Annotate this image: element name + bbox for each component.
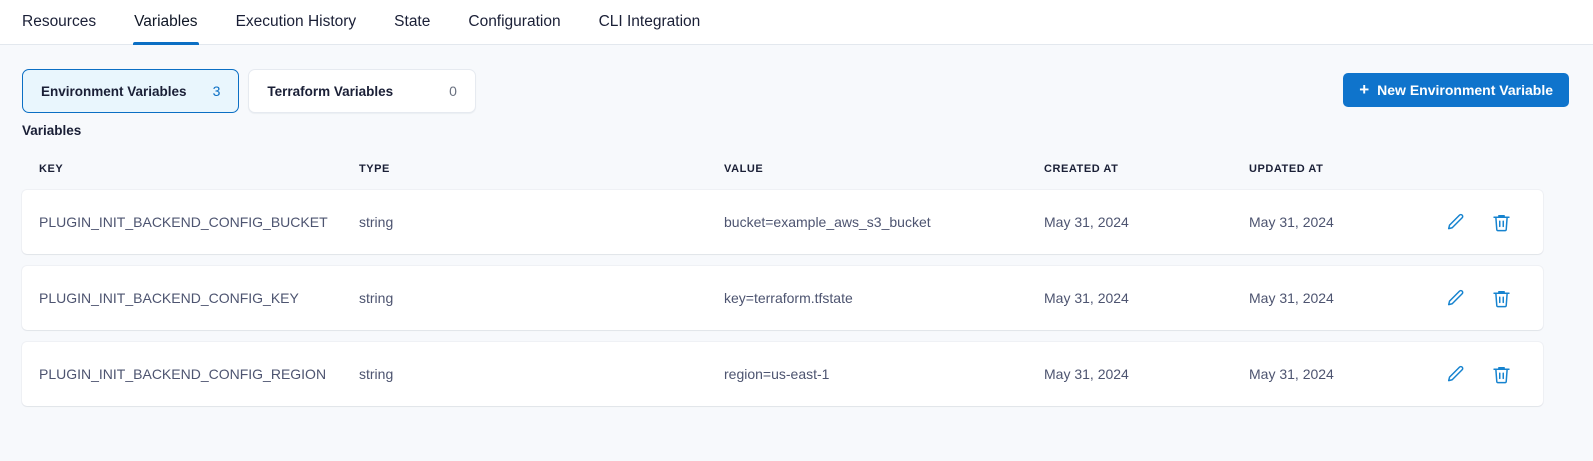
cell-value: region=us-east-1 — [707, 366, 1027, 382]
variables-table: KEY TYPE VALUE CREATED AT UPDATED AT PLU… — [0, 158, 1593, 406]
cell-type: string — [342, 214, 707, 230]
cell-actions — [1427, 287, 1540, 309]
cell-updated-at: May 31, 2024 — [1232, 214, 1427, 230]
trash-icon[interactable] — [1490, 363, 1512, 385]
tab-label: Resources — [22, 13, 96, 31]
table-row[interactable]: PLUGIN_INIT_BACKEND_CONFIG_KEY string ke… — [22, 266, 1543, 330]
cell-key: PLUGIN_INIT_BACKEND_CONFIG_BUCKET — [22, 214, 342, 230]
column-header-value: VALUE — [707, 163, 1027, 175]
tab-resources[interactable]: Resources — [22, 0, 96, 44]
table-header-row: KEY TYPE VALUE CREATED AT UPDATED AT — [0, 158, 1593, 180]
cell-key: PLUGIN_INIT_BACKEND_CONFIG_KEY — [22, 290, 342, 306]
cell-created-at: May 31, 2024 — [1027, 366, 1232, 382]
tab-label: Variables — [134, 13, 197, 31]
filter-count: 0 — [449, 83, 457, 99]
tab-state[interactable]: State — [394, 0, 430, 44]
variable-scope-filters: Environment Variables 3 Terraform Variab… — [22, 69, 476, 113]
filter-environment-variables[interactable]: Environment Variables 3 — [22, 69, 239, 113]
trash-icon[interactable] — [1490, 211, 1512, 233]
filter-count: 3 — [213, 83, 221, 99]
tab-variables[interactable]: Variables — [134, 0, 197, 44]
new-environment-variable-button[interactable]: + New Environment Variable — [1343, 73, 1569, 107]
cell-actions — [1427, 211, 1540, 233]
column-header-key: KEY — [22, 163, 342, 175]
tab-label: Execution History — [236, 13, 357, 31]
section-title: Variables — [0, 113, 1593, 138]
table-row[interactable]: PLUGIN_INIT_BACKEND_CONFIG_BUCKET string… — [22, 190, 1543, 254]
column-header-updated-at: UPDATED AT — [1232, 163, 1427, 175]
column-header-type: TYPE — [342, 163, 707, 175]
cell-type: string — [342, 290, 707, 306]
tab-label: Configuration — [468, 13, 560, 31]
pencil-icon[interactable] — [1444, 211, 1466, 233]
filter-terraform-variables[interactable]: Terraform Variables 0 — [248, 69, 476, 113]
tab-cli-integration[interactable]: CLI Integration — [599, 0, 701, 44]
cell-actions — [1427, 363, 1540, 385]
cell-updated-at: May 31, 2024 — [1232, 290, 1427, 306]
pencil-icon[interactable] — [1444, 287, 1466, 309]
table-row[interactable]: PLUGIN_INIT_BACKEND_CONFIG_REGION string… — [22, 342, 1543, 406]
column-header-created-at: CREATED AT — [1027, 163, 1232, 175]
tab-label: CLI Integration — [599, 13, 701, 31]
tab-label: State — [394, 13, 430, 31]
tab-configuration[interactable]: Configuration — [468, 0, 560, 44]
filter-label: Terraform Variables — [267, 84, 393, 99]
new-environment-variable-label: New Environment Variable — [1377, 82, 1553, 98]
trash-icon[interactable] — [1490, 287, 1512, 309]
table-body: PLUGIN_INIT_BACKEND_CONFIG_BUCKET string… — [0, 190, 1593, 406]
primary-tab-bar: Resources Variables Execution History St… — [0, 0, 1593, 45]
cell-created-at: May 31, 2024 — [1027, 290, 1232, 306]
variables-panel: Environment Variables 3 Terraform Variab… — [0, 45, 1593, 461]
cell-value: bucket=example_aws_s3_bucket — [707, 214, 1027, 230]
cell-created-at: May 31, 2024 — [1027, 214, 1232, 230]
cell-key: PLUGIN_INIT_BACKEND_CONFIG_REGION — [22, 366, 342, 382]
cell-updated-at: May 31, 2024 — [1232, 366, 1427, 382]
cell-value: key=terraform.tfstate — [707, 290, 1027, 306]
filter-label: Environment Variables — [41, 84, 187, 99]
plus-icon: + — [1359, 81, 1369, 98]
cell-type: string — [342, 366, 707, 382]
variables-subheader: Environment Variables 3 Terraform Variab… — [0, 45, 1593, 113]
pencil-icon[interactable] — [1444, 363, 1466, 385]
tab-execution-history[interactable]: Execution History — [236, 0, 357, 44]
